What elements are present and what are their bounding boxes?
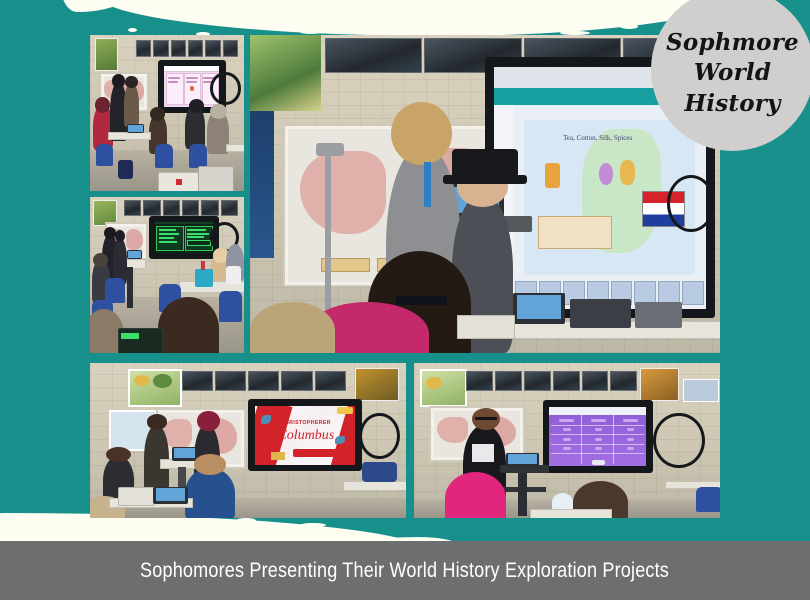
wall-hoop: [359, 413, 400, 459]
flyer-canvas: Tea, Cotton, Silk, Spices: [0, 0, 810, 600]
photo-purple-table-slide: [414, 363, 720, 518]
black-hat-icon: [452, 149, 518, 178]
photo-columbus-slide: CHRISTOPHERER Columbus: [90, 363, 406, 518]
laptop: [172, 447, 197, 461]
classroom-touchscreen: CHRISTOPHERER Columbus: [248, 399, 362, 472]
student-head: [95, 97, 110, 113]
student-head: [150, 107, 165, 121]
student: [124, 83, 139, 127]
poster-strip: [182, 371, 346, 391]
brush-fleck-7: [300, 523, 326, 527]
brush-fleck-6: [620, 24, 638, 29]
photo-classroom-pink-slide: [90, 35, 244, 191]
slide-purple-table: [549, 407, 646, 466]
student-head: [189, 99, 204, 113]
presenter-red-hair-head: [197, 411, 219, 431]
student-foreground: [158, 297, 220, 353]
laptop: [506, 453, 540, 467]
seated-student-head: [106, 447, 131, 463]
crutch: [316, 143, 344, 156]
caption-bar: Sophomores Presenting Their World Histor…: [0, 541, 810, 600]
slide-title-line1: CHRISTOPHERER: [269, 420, 343, 426]
caption-text: Sophomores Presenting Their World Histor…: [141, 559, 670, 583]
wall-hoop: [210, 72, 241, 105]
slide-title: Tea, Cotton, Silk, Spices: [541, 134, 654, 142]
laptop: [127, 250, 142, 259]
open-laptop: [513, 293, 565, 325]
brush-fleck-3: [300, 30, 322, 34]
student-head: [210, 104, 227, 120]
badge-line-3: History: [684, 89, 780, 120]
chair: [219, 291, 242, 322]
backpack: [362, 462, 397, 482]
wall-hoop: [653, 413, 705, 469]
chair: [696, 487, 720, 512]
badge-line-2: World: [694, 58, 771, 89]
slide-columbus: CHRISTOPHERER Columbus: [255, 406, 355, 465]
seated-student-blue-head: [194, 454, 226, 474]
equipment-box: [570, 299, 631, 328]
foreground-student-blond: [250, 302, 335, 353]
presenter-plaid-head: [147, 414, 168, 430]
chair: [96, 144, 113, 166]
presenter-glasses-icon: [475, 417, 496, 420]
photo-students-presenting-map: Tea, Cotton, Silk, Spices: [250, 35, 720, 353]
monitor-stand: [457, 315, 515, 339]
lanyard: [424, 162, 431, 207]
foreground-glasses-icon: [396, 296, 448, 306]
podium-post: [518, 473, 527, 516]
slide-title-line2: Columbus: [267, 428, 345, 444]
brush-fleck-8: [236, 518, 256, 523]
slide-note: [538, 216, 612, 249]
black-hat-brim: [443, 175, 528, 185]
poster-strip: [124, 200, 238, 216]
classroom-touchscreen: [543, 400, 653, 473]
seated-student-blue: [185, 468, 236, 518]
side-table: [343, 481, 406, 491]
desk: [530, 509, 612, 518]
laptop: [127, 124, 144, 133]
poster-strip: [136, 40, 238, 57]
chair: [155, 144, 173, 167]
photo-classroom-green-slide: [90, 197, 244, 353]
badge-line-1: Sophmore: [666, 28, 799, 59]
laptop: [153, 487, 188, 504]
classroom-display: [149, 216, 220, 260]
foreground-student-pink-hair: [445, 472, 506, 519]
equipment-box: [635, 302, 682, 327]
student-blond-head: [391, 102, 452, 166]
chair: [189, 144, 207, 167]
hoodie-graphic: [472, 444, 493, 463]
brush-stroke-top: [95, 0, 755, 36]
poster-strip: [466, 371, 637, 391]
brush-fleck-1: [128, 28, 137, 32]
desk: [226, 144, 244, 152]
slide-green: [155, 222, 214, 253]
wall-hoop: [667, 175, 715, 232]
slide-subtitle-band: [293, 449, 337, 457]
student-head: [125, 76, 137, 88]
